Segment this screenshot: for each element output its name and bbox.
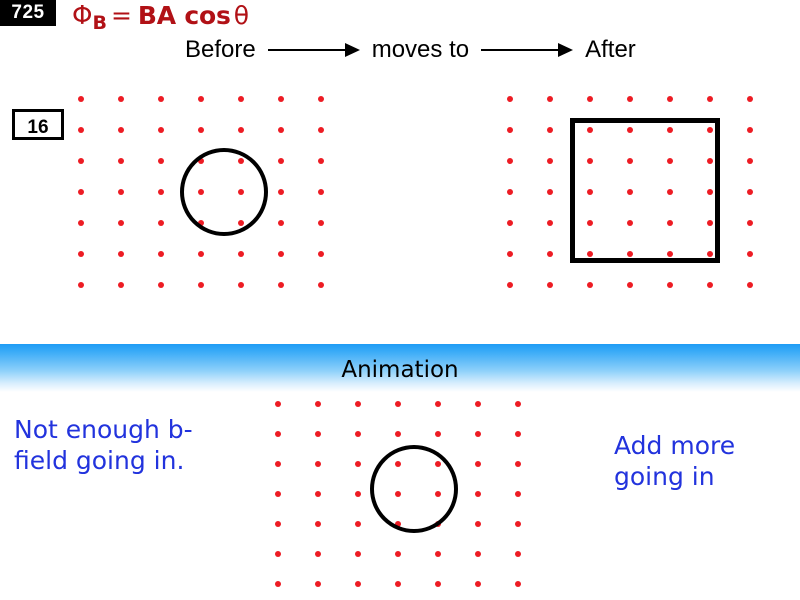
field-dot <box>318 251 324 257</box>
field-dot <box>78 220 84 226</box>
field-dot <box>547 189 553 195</box>
field-dot <box>547 282 553 288</box>
arrow-shaft <box>268 49 346 51</box>
field-dot <box>515 491 521 497</box>
field-dot <box>198 96 204 102</box>
field-dot <box>475 581 481 587</box>
field-dot <box>238 127 244 133</box>
field-dot <box>515 461 521 467</box>
field-dot <box>547 96 553 102</box>
field-dot <box>507 158 513 164</box>
caption-right: Add more going in <box>614 430 789 492</box>
field-dot <box>627 282 633 288</box>
field-dot <box>198 282 204 288</box>
field-dot <box>395 401 401 407</box>
field-dot <box>547 251 553 257</box>
field-dot <box>315 551 321 557</box>
field-dot <box>238 251 244 257</box>
field-dot <box>475 521 481 527</box>
field-dot <box>158 96 164 102</box>
field-dot <box>707 96 713 102</box>
arrow-shaft <box>481 49 559 51</box>
field-dot <box>78 189 84 195</box>
arrow-head <box>558 43 573 57</box>
field-dot <box>547 127 553 133</box>
field-dot <box>275 431 281 437</box>
animation-banner-label: Animation <box>0 344 800 392</box>
field-dot <box>475 431 481 437</box>
field-dot <box>318 282 324 288</box>
right-arrow-icon <box>268 40 360 60</box>
field-dot <box>315 431 321 437</box>
field-dot <box>275 551 281 557</box>
field-dot <box>78 282 84 288</box>
field-dot <box>78 127 84 133</box>
field-dot <box>318 127 324 133</box>
field-dot <box>158 127 164 133</box>
field-dot <box>475 551 481 557</box>
field-dot <box>355 491 361 497</box>
field-dot <box>318 189 324 195</box>
field-dot <box>435 581 441 587</box>
field-dot <box>275 521 281 527</box>
field-dot <box>158 189 164 195</box>
field-dot <box>507 96 513 102</box>
page-number-badge: 725 <box>0 0 56 26</box>
field-dot <box>515 431 521 437</box>
field-dot <box>435 401 441 407</box>
field-dot <box>355 521 361 527</box>
after-loop-square <box>570 118 720 263</box>
field-dot <box>315 521 321 527</box>
field-dot <box>78 251 84 257</box>
field-dot <box>278 158 284 164</box>
field-dot <box>547 220 553 226</box>
field-dot <box>747 127 753 133</box>
field-dot <box>315 581 321 587</box>
field-dot <box>507 282 513 288</box>
field-dot <box>315 491 321 497</box>
field-dot <box>507 127 513 133</box>
field-dot <box>747 96 753 102</box>
field-dot <box>278 282 284 288</box>
field-dot <box>747 251 753 257</box>
field-dot <box>395 551 401 557</box>
before-label: Before <box>185 36 256 64</box>
field-dot <box>315 401 321 407</box>
field-dot <box>667 282 673 288</box>
slide-number-badge: 16 <box>12 109 64 140</box>
transition-flow-row: Before moves to After <box>185 34 725 66</box>
field-dot <box>355 581 361 587</box>
field-dot <box>475 461 481 467</box>
animation-loop-circle <box>370 445 458 533</box>
formula-expression: BA cos <box>138 1 231 30</box>
animation-banner: Animation <box>0 344 800 392</box>
field-dot <box>747 220 753 226</box>
field-dot <box>158 282 164 288</box>
field-dot <box>278 189 284 195</box>
field-dot <box>118 189 124 195</box>
field-dot <box>355 431 361 437</box>
field-dot <box>238 96 244 102</box>
phi-subscript: B <box>92 12 106 34</box>
field-dot <box>275 461 281 467</box>
field-dot <box>278 220 284 226</box>
field-dot <box>118 96 124 102</box>
field-dot <box>435 431 441 437</box>
field-dot <box>515 401 521 407</box>
field-dot <box>238 282 244 288</box>
equals-sign: = <box>111 1 132 30</box>
field-dot <box>278 96 284 102</box>
field-dot <box>278 127 284 133</box>
field-dot <box>515 551 521 557</box>
field-dot <box>118 282 124 288</box>
field-dot <box>158 220 164 226</box>
field-dot <box>355 551 361 557</box>
field-dot <box>547 158 553 164</box>
theta-symbol: θ <box>234 1 249 30</box>
field-dot <box>198 127 204 133</box>
field-dot <box>747 282 753 288</box>
field-dot <box>587 282 593 288</box>
slide-canvas: 725 ΦB=BA cosθ Before moves to After 16 … <box>0 0 800 600</box>
field-dot <box>515 521 521 527</box>
field-dot <box>507 189 513 195</box>
field-dot <box>158 251 164 257</box>
field-dot <box>355 461 361 467</box>
field-dot <box>118 220 124 226</box>
before-loop-circle <box>180 148 268 236</box>
field-dot <box>78 96 84 102</box>
field-dot <box>627 96 633 102</box>
field-dot <box>198 251 204 257</box>
transition-label: moves to <box>372 36 469 64</box>
right-arrow-icon-2 <box>481 40 573 60</box>
field-dot <box>318 220 324 226</box>
field-dot <box>318 158 324 164</box>
field-dot <box>78 158 84 164</box>
after-label: After <box>585 36 636 64</box>
field-dot <box>667 96 673 102</box>
field-dot <box>395 581 401 587</box>
phi-symbol: Φ <box>72 1 92 31</box>
field-dot <box>435 551 441 557</box>
field-dot <box>278 251 284 257</box>
field-dot <box>707 282 713 288</box>
field-dot <box>747 158 753 164</box>
field-dot <box>118 158 124 164</box>
field-dot <box>515 581 521 587</box>
field-dot <box>118 127 124 133</box>
field-dot <box>158 158 164 164</box>
field-dot <box>395 431 401 437</box>
field-dot <box>118 251 124 257</box>
field-dot <box>315 461 321 467</box>
field-dot <box>475 491 481 497</box>
arrow-head <box>345 43 360 57</box>
field-dot <box>475 401 481 407</box>
field-dot <box>318 96 324 102</box>
field-dot <box>275 491 281 497</box>
field-dot <box>507 220 513 226</box>
caption-left: Not enough b-field going in. <box>14 414 194 476</box>
field-dot <box>587 96 593 102</box>
field-dot <box>275 401 281 407</box>
field-dot <box>275 581 281 587</box>
field-dot <box>355 401 361 407</box>
field-dot <box>507 251 513 257</box>
field-dot <box>747 189 753 195</box>
